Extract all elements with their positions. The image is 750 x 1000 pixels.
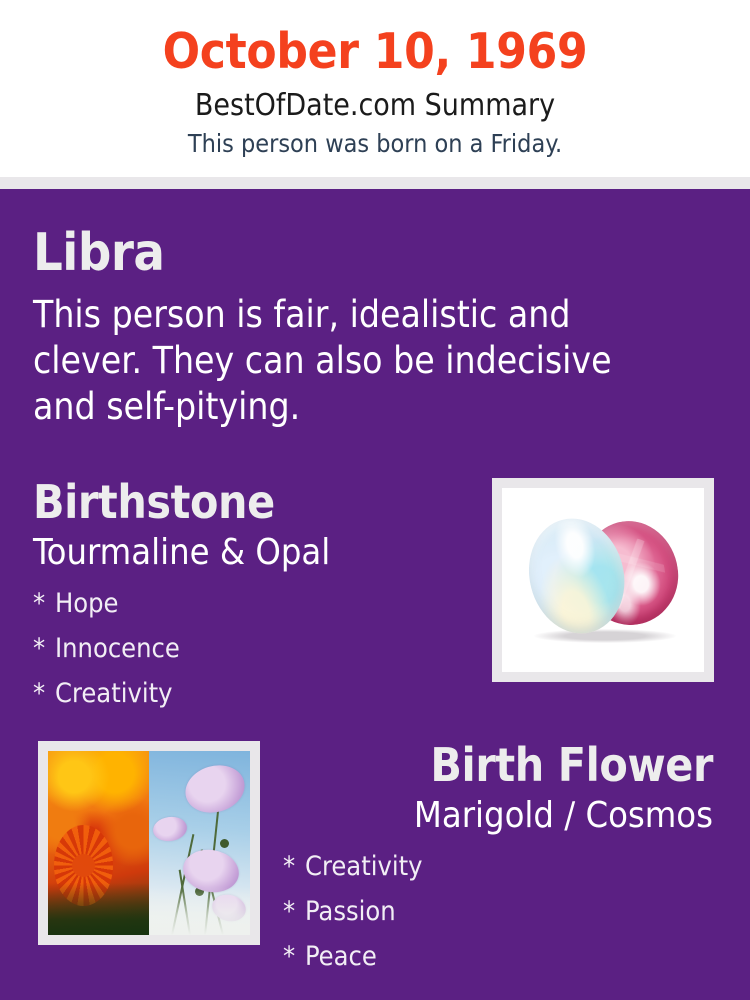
cosmos-bloom	[152, 815, 189, 843]
birthstone-value: Tourmaline & Opal	[33, 530, 473, 575]
cosmos-bloom	[180, 758, 250, 819]
flower-bud	[195, 887, 204, 896]
birth-flower-trait-label: Passion	[305, 896, 396, 927]
birthstone-trait-label: Innocence	[55, 633, 180, 664]
birthday-summary-card: October 10, 1969 BestOfDate.com Summary …	[0, 0, 750, 1000]
birthstone-image-frame	[492, 478, 714, 682]
birth-flower-trait-list: *Creativity *Passion *Peace	[283, 838, 713, 979]
header-divider	[0, 177, 750, 189]
birth-flower-section: Birth Flower Marigold / Cosmos *Creativi…	[283, 737, 713, 979]
zodiac-description: This person is fair, idealistic and clev…	[33, 284, 613, 430]
birth-flower-value: Marigold / Cosmos	[283, 793, 713, 838]
list-item: *Peace	[283, 934, 713, 979]
list-item: *Creativity	[33, 671, 473, 716]
card-header: October 10, 1969 BestOfDate.com Summary …	[0, 0, 750, 177]
birth-flower-title: Birth Flower	[283, 737, 713, 793]
birth-flower-image	[48, 751, 250, 935]
bullet-marker-icon: *	[283, 934, 305, 979]
birthstone-trait-list: *Hope *Innocence *Creativity	[33, 575, 473, 716]
gemstone-shadow	[534, 629, 675, 643]
birthstone-title: Birthstone	[33, 474, 473, 530]
list-item: *Creativity	[283, 844, 713, 889]
flower-bud	[220, 839, 229, 848]
birthstone-trait-label: Hope	[55, 588, 119, 619]
birth-flower-image-frame	[38, 741, 260, 945]
list-item: *Hope	[33, 581, 473, 626]
bullet-marker-icon: *	[33, 671, 55, 716]
birthstone-section: Birthstone Tourmaline & Opal *Hope *Inno…	[33, 474, 473, 716]
gemstone-illustration	[502, 488, 704, 672]
bullet-marker-icon: *	[33, 626, 55, 671]
birth-flower-trait-label: Peace	[305, 941, 377, 972]
bullet-marker-icon: *	[283, 844, 305, 889]
zodiac-section: Libra This person is fair, idealistic an…	[33, 222, 633, 430]
cosmos-photo-half	[149, 751, 250, 935]
site-name: BestOfDate.com Summary	[0, 82, 750, 125]
page-title-date: October 10, 1969	[0, 0, 750, 82]
birth-flower-trait-label: Creativity	[305, 851, 422, 882]
bullet-marker-icon: *	[33, 581, 55, 626]
flower-illustration	[48, 751, 250, 935]
cosmos-bloom	[209, 891, 248, 924]
list-item: *Passion	[283, 889, 713, 934]
marigold-photo-half	[48, 751, 149, 935]
list-item: *Innocence	[33, 626, 473, 671]
birthstone-image	[502, 488, 704, 672]
zodiac-sign-name: Libra	[33, 222, 633, 284]
birthstone-trait-label: Creativity	[55, 678, 172, 709]
bullet-marker-icon: *	[283, 889, 305, 934]
birth-day-of-week-text: This person was born on a Friday.	[0, 125, 750, 160]
